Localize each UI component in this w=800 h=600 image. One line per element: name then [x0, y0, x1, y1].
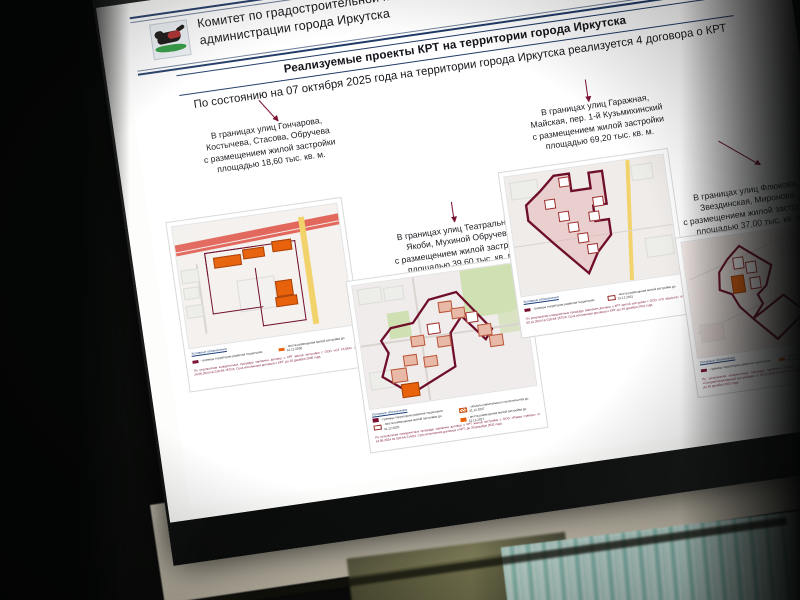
legend-swatch-building: [779, 357, 785, 361]
legend-swatch-hatch: [459, 407, 468, 413]
arrow-to-garazhnaya: [585, 79, 589, 101]
map-canvas-teatralnoy: [351, 261, 537, 410]
arrow-to-teatralnoy: [451, 202, 455, 222]
legend-swatch-boundary: [701, 368, 707, 372]
irkutsk-coat-of-arms-icon: [149, 19, 192, 60]
legend-swatch-boundary: [524, 308, 530, 312]
boundary-polygon-garazhnaya: [504, 155, 679, 297]
map-canvas-garazhnaya: [503, 154, 681, 298]
legend-swatch-white: [373, 425, 382, 431]
legend-swatch-building: [278, 347, 284, 351]
callout-garazhnaya: В границах улиц Гаражная, Майская, пер. …: [489, 85, 705, 160]
photo-scene: Комитет по градостроительной политике ад…: [0, 0, 800, 600]
legend-swatch-boundary: [192, 360, 198, 364]
map-card-garazhnaya[interactable]: Условные обозначения - границы территори…: [498, 148, 692, 339]
map-canvas-goncharova: [171, 203, 355, 350]
slide-content: Комитет по градостроительной политике ад…: [119, 0, 800, 508]
presentation-slide: Комитет по градостроительной политике ад…: [96, 0, 800, 523]
legend-swatch-boundary: [372, 418, 378, 422]
callout-goncharova: В границах улиц Гончарова, Костычева, Ст…: [159, 108, 378, 184]
map-card-goncharova[interactable]: Условные обозначения - границы территори…: [165, 197, 366, 393]
screen-surface: Комитет по градостроительной политике ад…: [96, 0, 800, 523]
legend-swatch-white: [607, 294, 616, 300]
arrow-to-flyukova: [718, 141, 760, 166]
map-card-flyukova[interactable]: Условные обозначения - границы территори…: [675, 215, 800, 398]
map-canvas-flyukova: [680, 220, 800, 358]
arrow-to-goncharova: [258, 100, 278, 122]
